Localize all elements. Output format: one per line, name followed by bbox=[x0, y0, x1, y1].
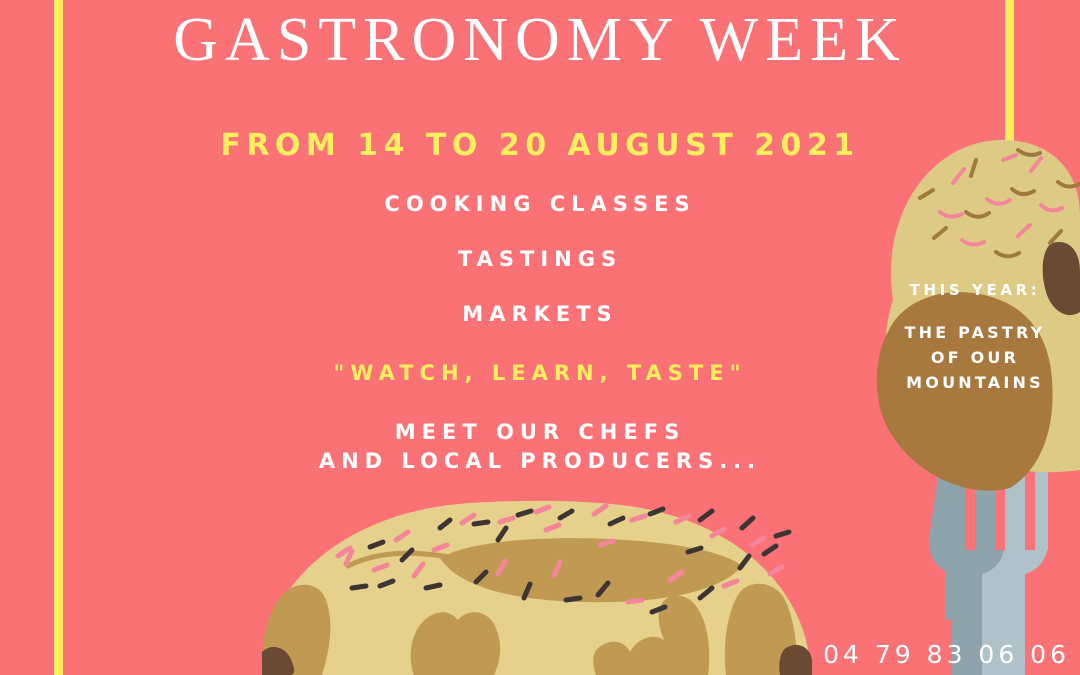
theme-line-3: MOUNTAINS bbox=[880, 370, 1070, 395]
theme-heading: THIS YEAR: bbox=[880, 280, 1070, 300]
theme-badge: THIS YEAR: THE PASTRY OF OUR MOUNTAINS bbox=[880, 280, 1070, 395]
activity-item-tastings: TASTINGS bbox=[0, 247, 1080, 271]
theme-body: THE PASTRY OF OUR MOUNTAINS bbox=[880, 320, 1070, 395]
contact-phone-number: 04 79 83 06 06 bbox=[780, 640, 1070, 669]
cta-line-1: MEET OUR CHEFS bbox=[0, 418, 1080, 447]
call-to-action: MEET OUR CHEFS AND LOCAL PRODUCERS... bbox=[0, 418, 1080, 476]
page-title: GASTRONOMY WEEK bbox=[0, 8, 1080, 73]
activity-item-cooking-classes: COOKING CLASSES bbox=[0, 192, 1080, 216]
text-layer: GASTRONOMY WEEK FROM 14 TO 20 AUGUST 202… bbox=[0, 0, 1080, 675]
cta-line-2: AND LOCAL PRODUCERS... bbox=[0, 447, 1080, 476]
event-dates: FROM 14 TO 20 AUGUST 2021 bbox=[0, 128, 1080, 163]
theme-line-2: OF OUR bbox=[880, 345, 1070, 370]
poster-canvas: GASTRONOMY WEEK FROM 14 TO 20 AUGUST 202… bbox=[0, 0, 1080, 675]
theme-line-1: THE PASTRY bbox=[880, 320, 1070, 345]
